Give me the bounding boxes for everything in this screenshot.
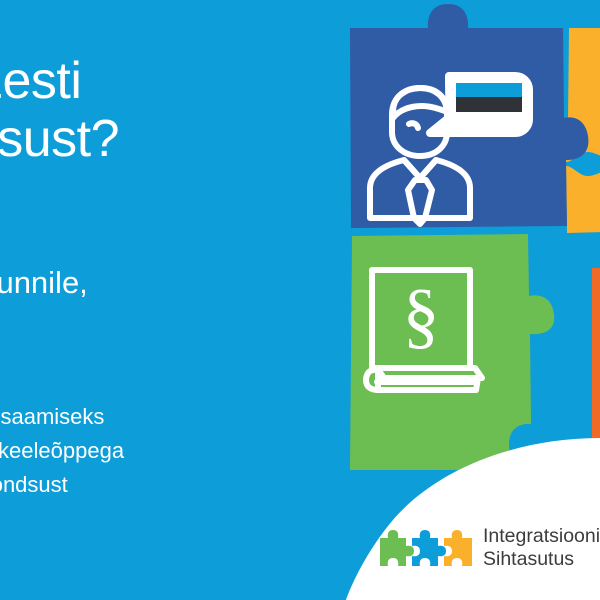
list-item: nikuks saamiseks (0, 400, 372, 434)
three-puzzle-pieces-mark (378, 520, 474, 576)
logo-text-line-2: Sihtasutus (483, 548, 600, 571)
puzzle-piece-orange-bottom (566, 166, 600, 233)
subheading-line-1: a infotunnile, (0, 262, 362, 303)
estonian-flag-icon (456, 83, 522, 126)
list-item: tasuta keeleõppega (0, 434, 372, 468)
paragraph-symbol: § (403, 275, 440, 357)
poster-canvas: § te Eesti ondsust? a infotunnile, ada: … (0, 0, 600, 600)
headline-line-1: te Eesti (0, 52, 362, 110)
subheading: a infotunnile, ada: (0, 262, 362, 344)
text-column: te Eesti ondsust? a infotunnile, ada: ni… (0, 0, 360, 600)
puzzle-piece-orange-red-edge (592, 268, 600, 452)
list-item: kodakondsust (0, 468, 372, 502)
puzzle-knob-green (451, 468, 512, 512)
page-title: te Eesti ondsust? (0, 52, 362, 168)
logo-text-line-1: Integratsiooni (483, 525, 600, 548)
headline-line-2: ondsust? (0, 110, 362, 168)
subheading-line-2: ada: (0, 303, 362, 344)
integratsiooni-sihtasutus-logo: Integratsiooni Sihtasutus (378, 519, 590, 577)
logo-wordmark: Integratsiooni Sihtasutus (483, 525, 600, 570)
benefit-list: nikuks saamiseks tasuta keeleõppega koda… (0, 400, 372, 502)
